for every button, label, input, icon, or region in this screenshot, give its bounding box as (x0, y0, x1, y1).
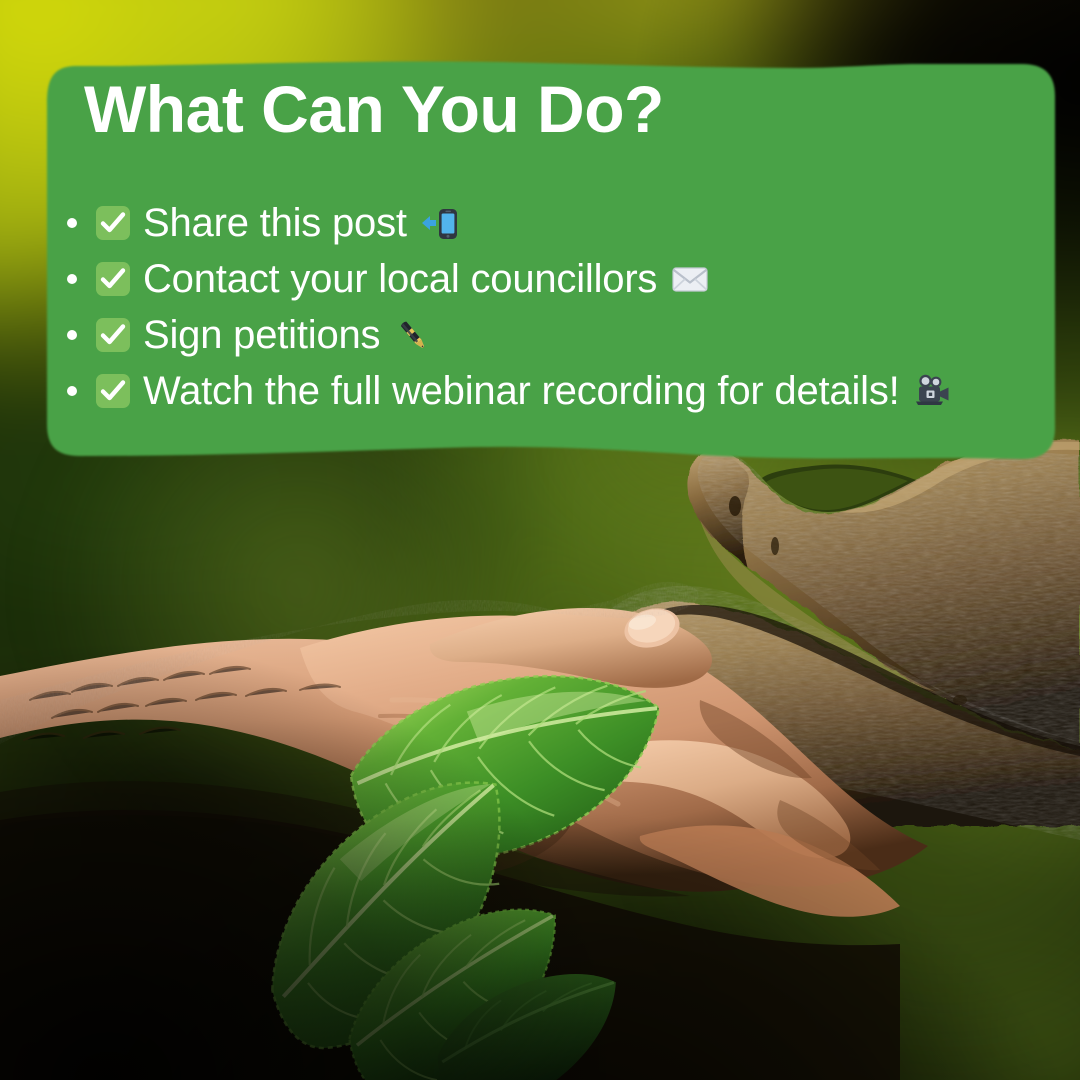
envelope-icon (670, 259, 710, 299)
list-item[interactable]: Contact your local councillors (60, 251, 1060, 307)
action-list: Share this post (60, 195, 1060, 419)
list-item-label: Contact your local councillors (143, 259, 657, 299)
bullet-dot (67, 330, 77, 340)
card-content: What Can You Do? Share this post (0, 0, 1080, 470)
check-mark-icon[interactable] (96, 262, 130, 296)
list-item-label: Watch the full webinar recording for det… (143, 371, 900, 411)
page-title: What Can You Do? (84, 76, 664, 142)
check-mark-icon[interactable] (96, 318, 130, 352)
list-item-label: Share this post (143, 203, 407, 243)
mobile-phone-with-arrow-icon (420, 203, 460, 243)
list-item-label: Sign petitions (143, 315, 380, 355)
pen-icon (393, 315, 433, 355)
list-item[interactable]: Share this post (60, 195, 1060, 251)
bullet-dot (67, 386, 77, 396)
movie-camera-icon (913, 371, 953, 411)
list-item[interactable]: Watch the full webinar recording for det… (60, 363, 1060, 419)
check-mark-icon[interactable] (96, 206, 130, 240)
bullet-dot (67, 274, 77, 284)
poster-canvas: What Can You Do? Share this post (0, 0, 1080, 1080)
bullet-dot (67, 218, 77, 228)
list-item[interactable]: Sign petitions (60, 307, 1060, 363)
check-mark-icon[interactable] (96, 374, 130, 408)
